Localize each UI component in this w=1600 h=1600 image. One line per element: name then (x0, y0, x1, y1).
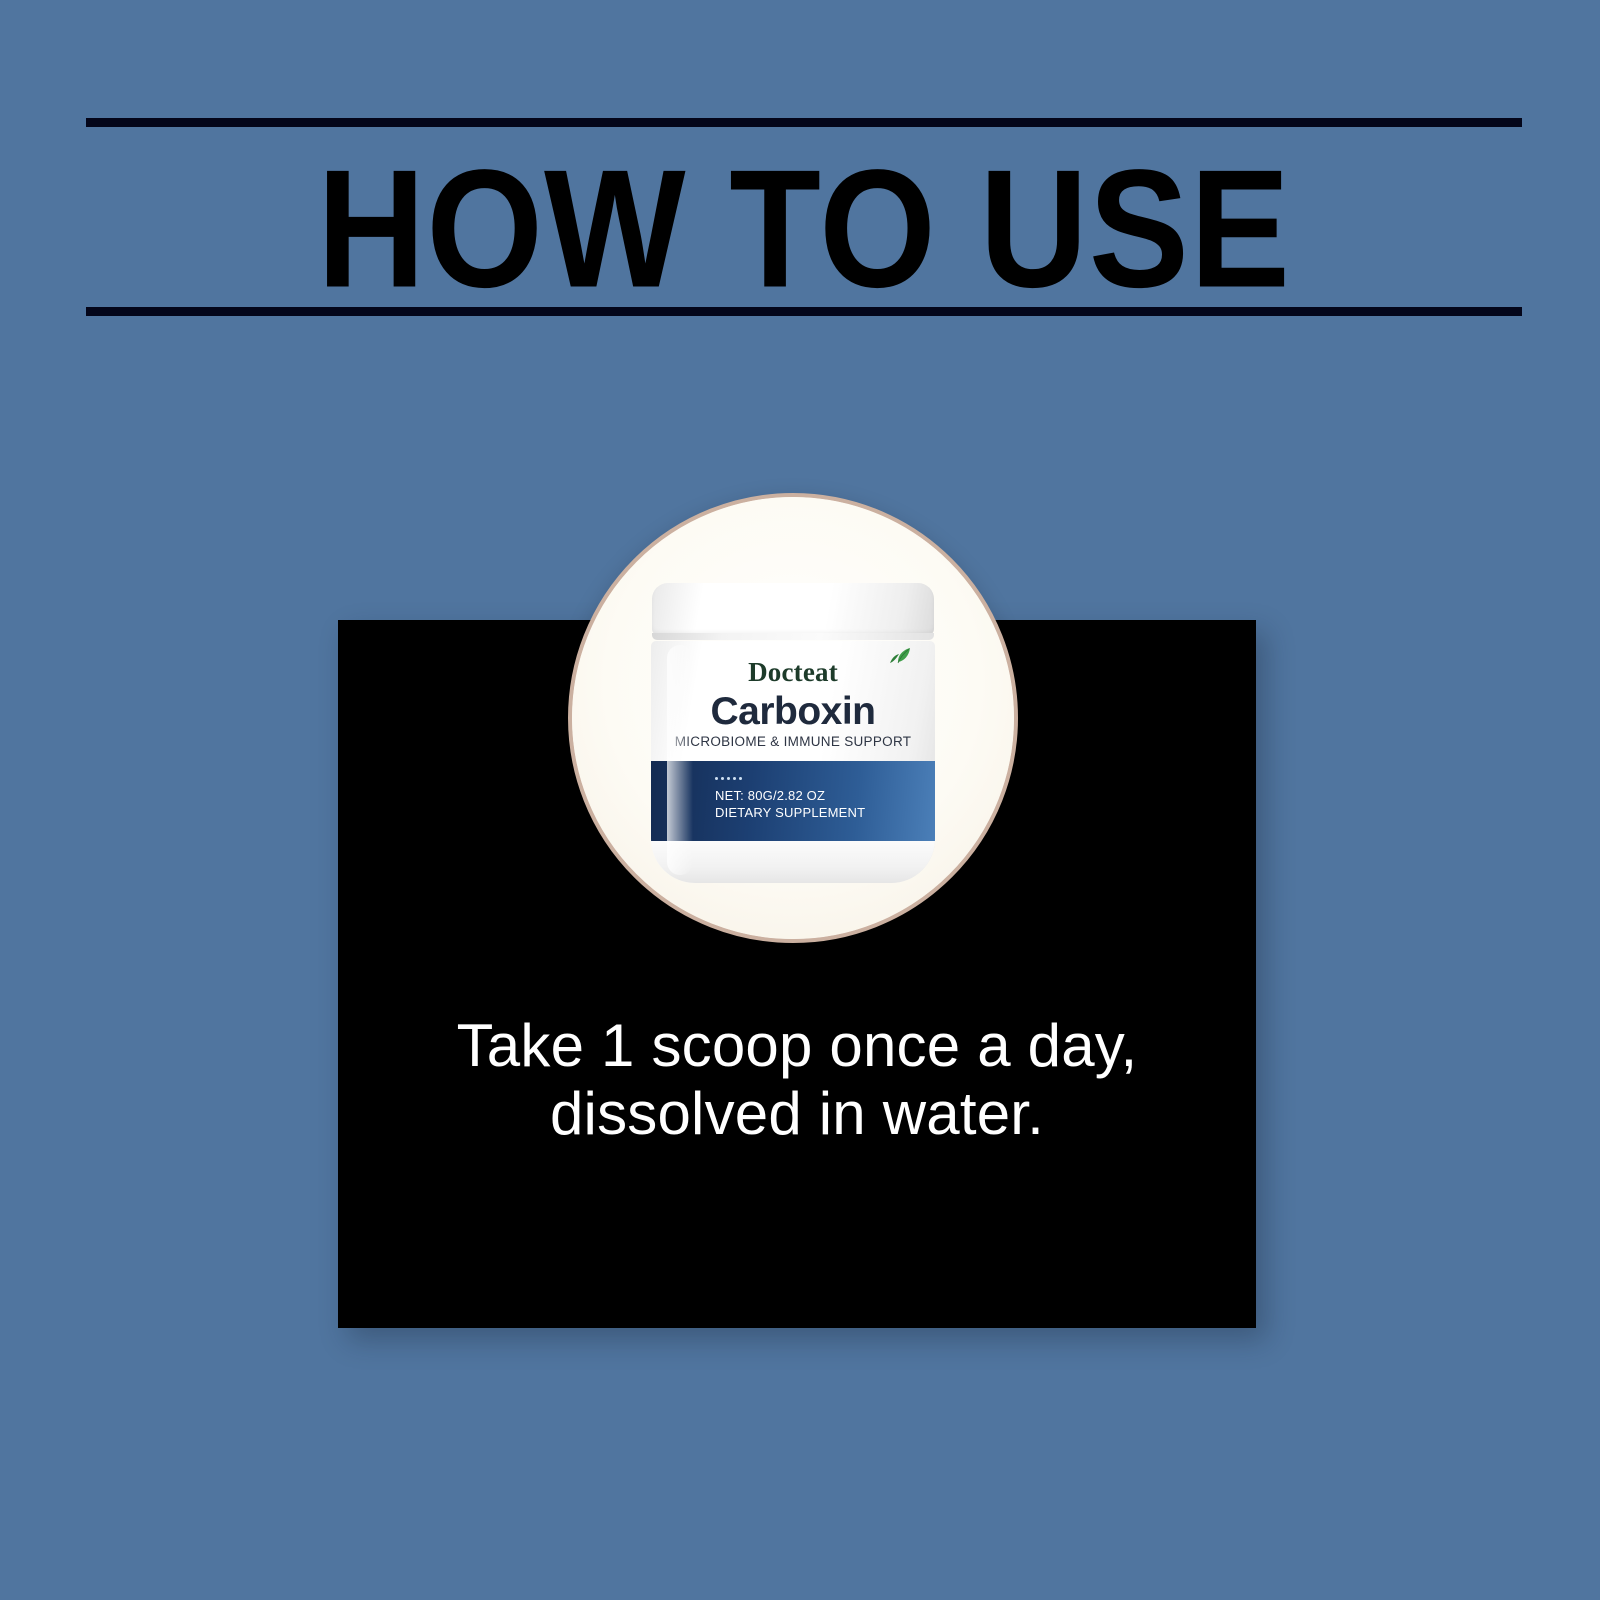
page-title: HOW TO USE (86, 133, 1522, 321)
instruction-caption: Take 1 scoop once a day, dissolved in wa… (338, 1012, 1256, 1148)
poster-canvas: HOW TO USE Take 1 scoop once a day, diss… (0, 0, 1600, 1600)
header-block: HOW TO USE (86, 118, 1522, 316)
caption-line-1: Take 1 scoop once a day, (378, 1012, 1216, 1080)
product-subtitle: MICROBIOME & IMMUNE SUPPORT (651, 734, 935, 750)
dietary-supplement-text: DIETARY SUPPLEMENT (715, 804, 865, 821)
jar-lid (652, 583, 934, 635)
brand-lockup: Docteat (651, 657, 935, 687)
product-medallion: Docteat Carboxin MICROBIOME & IMMUNE SUP… (568, 493, 1018, 943)
caption-line-2: dissolved in water. (378, 1080, 1216, 1148)
net-weight-text: NET: 80G/2.82 OZ (715, 787, 825, 804)
product-jar-image: Docteat Carboxin MICROBIOME & IMMUNE SUP… (651, 583, 935, 883)
jar-lid-lip (652, 633, 934, 640)
jar-body: Docteat Carboxin MICROBIOME & IMMUNE SUP… (651, 641, 935, 883)
jar-bottom-shading (651, 841, 935, 883)
leaf-icon (887, 647, 911, 665)
label-blue-band: NET: 80G/2.82 OZ DIETARY SUPPLEMENT (651, 761, 935, 841)
header-rule-top (86, 118, 1522, 127)
product-name: Carboxin (651, 691, 935, 733)
brand-name: Docteat (748, 657, 838, 687)
band-dots-decoration (715, 777, 742, 780)
